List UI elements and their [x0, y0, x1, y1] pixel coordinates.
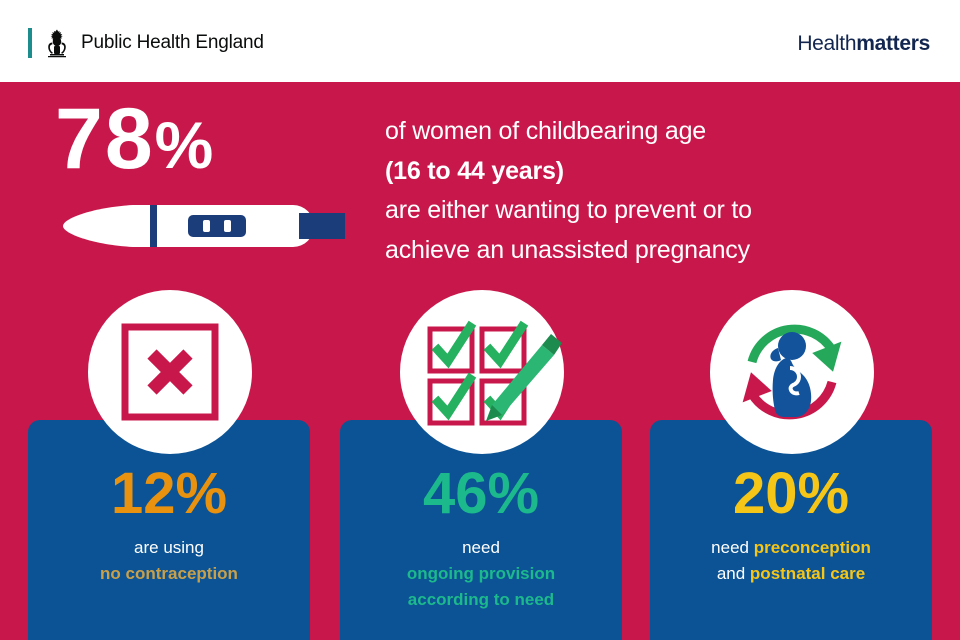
hero-line-4: achieve an unassisted pregnancy — [385, 231, 925, 271]
panel-1-stat: 12% — [28, 465, 310, 523]
panel-2-line-3: according to need — [340, 587, 622, 613]
panel-3-line-1: need preconception — [650, 535, 932, 561]
brand-accent-bar — [28, 28, 32, 58]
panel-1-icon-circle — [88, 290, 252, 454]
panel-3-stat: 20% — [650, 465, 932, 523]
panel-2-line-2: ongoing provision — [340, 561, 622, 587]
hero-stat-number: 78 — [55, 91, 155, 187]
panel-3-line-1-highlight: preconception — [754, 538, 871, 557]
page-header: Public Health England Healthmatters — [0, 0, 960, 82]
logo-matters-word: matters — [856, 32, 930, 55]
panel-1-line-2: no contraception — [28, 561, 310, 587]
panel-2-stat: 46% — [340, 465, 622, 523]
infographic-page: Public Health England Healthmatters 78% … — [0, 0, 960, 640]
pregnancy-cycle-arrows-icon — [728, 308, 856, 436]
brand-name-label: Public Health England — [81, 32, 264, 54]
hero-stat-percent: % — [155, 108, 216, 182]
cross-in-box-icon — [118, 320, 222, 424]
hero-line-3: are either wanting to prevent or to — [385, 191, 925, 231]
panel-3-text: need preconception and postnatal care — [650, 535, 932, 587]
panel-3-line-2-plain: and — [717, 564, 745, 583]
panel-2-line-1: need — [340, 535, 622, 561]
checkbox-grid-marker-icon — [414, 303, 564, 433]
pregnancy-test-icon — [55, 193, 355, 259]
health-matters-logo: Healthmatters — [797, 32, 930, 56]
panel-3-line-1-plain: need — [711, 538, 749, 557]
hero-line-2: (16 to 44 years) — [385, 152, 925, 192]
panel-1-line-1: are using — [28, 535, 310, 561]
royal-crest-icon — [42, 28, 72, 58]
phe-brand: Public Health England — [28, 28, 264, 58]
panel-2-text: need ongoing provision according to need — [340, 535, 622, 612]
panel-3-line-2-highlight: postnatal care — [750, 564, 865, 583]
hero-line-1: of women of childbearing age — [385, 112, 925, 152]
panel-3-line-2: and postnatal care — [650, 561, 932, 587]
hero-description: of women of childbearing age (16 to 44 y… — [385, 112, 925, 270]
panel-2-icon-circle — [400, 290, 564, 454]
hero-stat-block: 78% — [55, 100, 365, 259]
hero-stat: 78% — [55, 100, 365, 179]
panel-2-body: 46% need ongoing provision according to … — [340, 465, 622, 612]
panel-3-body: 20% need preconception and postnatal car… — [650, 465, 932, 587]
panel-3-icon-circle — [710, 290, 874, 454]
pregnant-woman-silhouette — [770, 332, 811, 417]
panel-1-body: 12% are using no contraception — [28, 465, 310, 587]
panel-1-text: are using no contraception — [28, 535, 310, 587]
logo-health-word: Health — [797, 32, 856, 55]
